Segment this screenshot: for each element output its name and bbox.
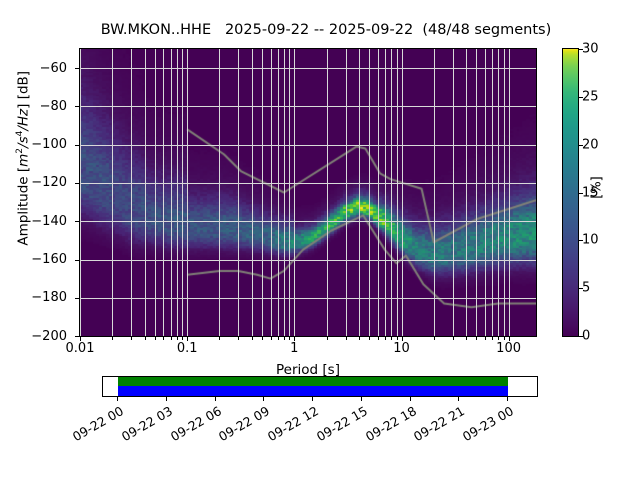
x-axis-tick-mark [397,337,398,340]
gridline-v [187,49,188,336]
x-axis-tick-mark [378,337,379,340]
gridline-v [397,49,398,336]
gridline-v [177,49,178,336]
x-axis-tick-mark [369,337,370,340]
gridline-v [434,49,435,336]
time-axis-tick-mark [361,397,362,401]
time-axis-tick-mark [263,397,264,401]
y-axis-tick-mark [75,68,79,69]
gridline-h [80,221,536,222]
y-axis-label: Amplitude [m2/s4/Hz] [dB] [15,13,32,303]
x-axis-tick-mark [238,337,239,340]
colorbar-tick-mark [579,97,583,98]
time-axis-tick-mark [507,397,508,401]
x-axis-tick-mark [476,337,477,340]
colorbar-tick-mark [579,240,583,241]
time-axis-tick-mark [117,397,118,401]
x-axis-tick-mark [145,337,146,340]
x-axis-tick-mark [131,337,132,340]
gridline-v [466,49,467,336]
x-axis-tick-label: 0.01 [66,342,95,355]
psd-coverage-band [118,377,508,386]
gridline-v [402,49,403,336]
x-axis-tick-mark [327,337,328,340]
gridline-v [155,49,156,336]
gridline-v [252,49,253,336]
gridline-v [504,49,505,336]
x-axis-tick-mark [434,337,435,340]
gridline-v [80,49,81,336]
y-axis-tick-label: −80 [0,100,74,113]
gridline-h [80,298,536,299]
gridline-v [262,49,263,336]
y-axis-tick-label: −180 [0,291,74,304]
gridline-h [80,260,536,261]
x-axis-tick-mark [385,337,386,340]
x-axis-tick-mark [359,337,360,340]
gridline-v [219,49,220,336]
data-coverage-band [118,386,508,396]
y-axis-tick-label: −140 [0,215,74,228]
x-axis-tick-mark [112,337,113,340]
gridline-h [80,183,536,184]
colorbar-tick-label: 20 [582,138,599,151]
y-axis-tick-label: −120 [0,176,74,189]
y-axis-tick-mark [75,183,79,184]
gridline-v [145,49,146,336]
y-axis-tick-label: −60 [0,62,74,75]
x-axis-tick-mark [453,337,454,340]
x-axis-tick-mark [262,337,263,340]
gridline-v [163,49,164,336]
gridline-v [509,49,510,336]
y-axis-tick-label: −160 [0,253,74,266]
colorbar-label: [%] [590,163,605,213]
x-axis-tick-mark [284,337,285,340]
gridline-v [182,49,183,336]
gridline-v [289,49,290,336]
y-axis-tick-mark [75,221,79,222]
gridline-h [80,145,536,146]
colorbar [562,48,579,337]
x-axis-tick-label: 0.1 [177,342,198,355]
gridline-v [492,49,493,336]
time-axis-tick-mark [166,397,167,401]
colorbar-tick-mark [579,288,583,289]
y-axis-tick-label: −100 [0,138,74,151]
x-axis-tick-mark [504,337,505,340]
colorbar-tick-label: 0 [582,330,590,343]
x-axis-tick-mark [278,337,279,340]
colorbar-tick-mark [579,49,583,50]
colorbar-tick-mark [579,193,583,194]
gridline-v [498,49,499,336]
x-axis-tick-label: 1 [290,342,298,355]
x-axis-tick-mark [171,337,172,340]
x-axis-tick-mark [498,337,499,340]
y-axis-tick-mark [75,106,79,107]
time-axis-tick-mark [215,397,216,401]
gridline-v [485,49,486,336]
gridline-v [238,49,239,336]
x-axis-tick-mark [163,337,164,340]
coverage-strip [102,376,538,397]
x-axis-tick-mark [252,337,253,340]
x-axis-tick-mark [155,337,156,340]
x-axis-tick-mark [466,337,467,340]
gridline-v [271,49,272,336]
colorbar-tick-label: 25 [582,90,599,103]
colorbar-tick-mark [579,336,583,337]
y-axis-tick-mark [75,336,79,337]
x-axis-tick-mark [391,337,392,340]
colorbar-tick-label: 10 [582,234,599,247]
time-axis-tick-mark [458,397,459,401]
ppsd-heatmap-axes [79,48,537,337]
colorbar-tick-label: 30 [582,43,599,56]
x-axis-tick-mark [219,337,220,340]
gridline-v [369,49,370,336]
y-axis-tick-label: −200 [0,330,74,343]
gridline-v [346,49,347,336]
gridline-v [278,49,279,336]
gridline-h [80,68,536,69]
time-axis-tick-mark [312,397,313,401]
gridline-h [80,106,536,107]
gridline-v [284,49,285,336]
gridline-v [391,49,392,336]
time-axis-tick-mark [410,397,411,401]
y-axis-tick-mark [75,260,79,261]
x-axis-tick-mark [182,337,183,340]
colorbar-tick-label: 5 [582,282,590,295]
gridline-v [385,49,386,336]
x-axis-tick-mark [271,337,272,340]
gridline-v [171,49,172,336]
page-title: BW.MKON..HHE 2025-09-22 -- 2025-09-22 (4… [0,22,640,38]
colorbar-tick-mark [579,145,583,146]
gridline-v [453,49,454,336]
gridline-v [131,49,132,336]
ppsd-density-canvas [80,49,536,336]
gridline-v [112,49,113,336]
x-axis-tick-mark [492,337,493,340]
gridline-v [476,49,477,336]
x-axis-tick-label: 100 [496,342,521,355]
gridline-v [359,49,360,336]
x-axis-tick-mark [485,337,486,340]
y-axis-tick-mark [75,145,79,146]
x-axis-tick-mark [289,337,290,340]
gridline-v [378,49,379,336]
gridline-v [327,49,328,336]
x-axis-tick-mark [177,337,178,340]
x-axis-tick-mark [346,337,347,340]
y-axis-tick-mark [75,298,79,299]
gridline-h [80,336,536,337]
gridline-v [294,49,295,336]
x-axis-tick-label: 10 [393,342,410,355]
